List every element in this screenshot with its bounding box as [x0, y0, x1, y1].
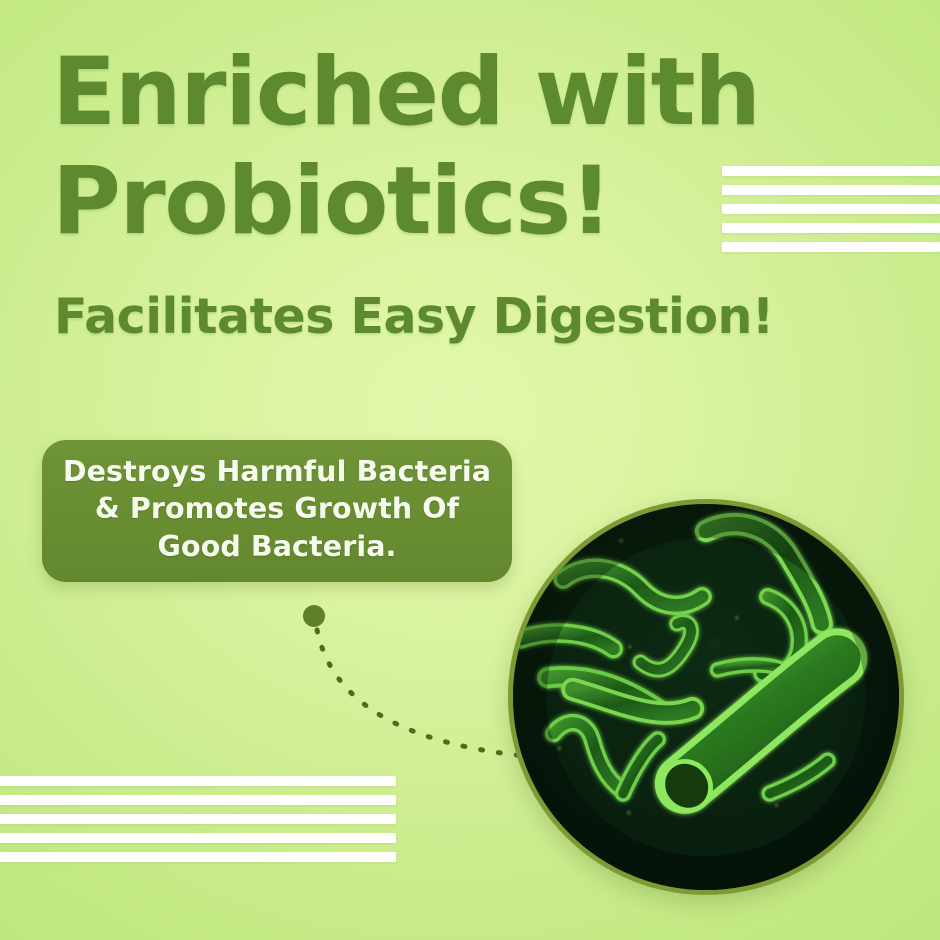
poster-canvas: Enriched with Probiotics! Facilitates Ea…: [0, 0, 940, 940]
stripe-bar: [0, 814, 396, 824]
subheadline: Facilitates Easy Digestion!: [54, 288, 774, 345]
stripe-bar: [0, 852, 396, 862]
headline-line-1: Enriched with: [52, 38, 772, 147]
stripe-bar: [0, 776, 396, 786]
bacteria-photo-circle: [508, 499, 904, 895]
connector-dot: [303, 605, 325, 627]
callout-badge: Destroys Harmful Bacteria & Promotes Gro…: [42, 440, 512, 582]
decor-stripes-bottom-left: [0, 776, 396, 862]
headline-line-2: Probiotics!: [52, 147, 772, 256]
headline-block: Enriched with Probiotics!: [52, 38, 772, 256]
callout-badge-text: Destroys Harmful Bacteria & Promotes Gro…: [63, 453, 491, 566]
stripe-bar: [0, 795, 396, 805]
bacteria-illustration: [513, 504, 899, 890]
stripe-bar: [0, 833, 396, 843]
